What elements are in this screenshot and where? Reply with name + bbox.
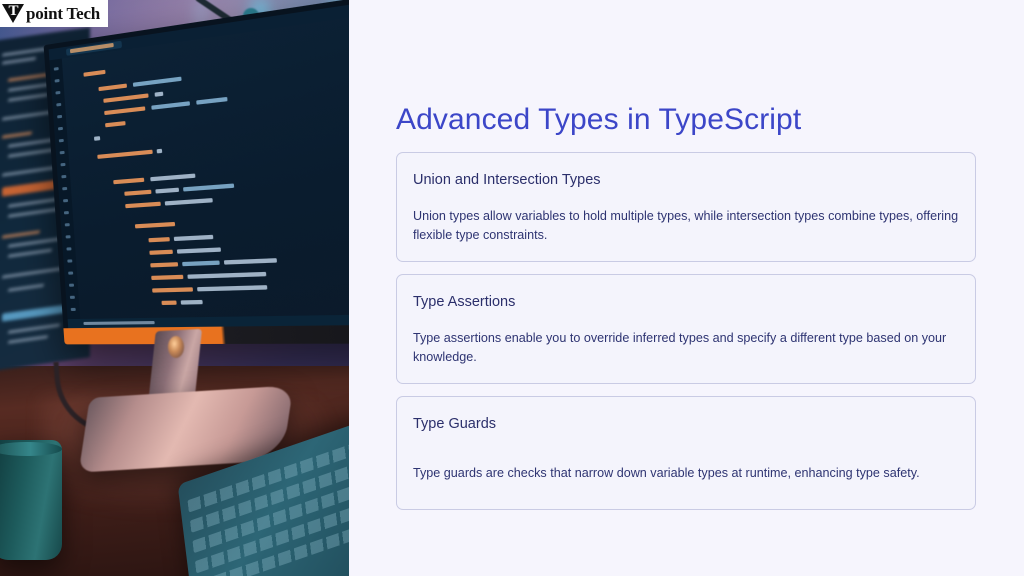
slide: T point Tech Advanced Types in TypeScrip… [0,0,1024,576]
page-title: Advanced Types in TypeScript [396,100,801,140]
monitor-bezel [63,324,349,344]
hero-photo: T point Tech [0,0,349,576]
content-panel: Advanced Types in TypeScript Union and I… [349,0,1024,576]
card-type-guards: Type Guards Type guards are checks that … [396,396,976,510]
editor-code [69,23,349,313]
card-type-assertions: Type Assertions Type assertions enable y… [396,274,976,384]
brand-logo: T point Tech [0,0,108,27]
editor-status-text [83,321,154,325]
card-title: Union and Intersection Types [413,171,959,189]
card-title: Type Guards [413,415,959,433]
monitor-screen [49,0,349,328]
card-body: Union types allow variables to hold mult… [413,207,959,245]
logo-mark-letter: T [2,4,25,19]
card-union-and-intersection-types: Union and Intersection Types Union types… [396,152,976,262]
card-title: Type Assertions [413,293,959,311]
triangle-t-logo-icon: T [2,3,25,24]
card-body: Type assertions enable you to override i… [413,329,959,367]
computer-monitor [44,0,349,344]
monitor-stand-cutout [168,336,184,358]
logo-text: point Tech [26,5,100,22]
card-body: Type guards are checks that narrow down … [413,464,959,483]
coffee-mug [0,440,62,560]
card-list: Union and Intersection Types Union types… [396,152,976,510]
